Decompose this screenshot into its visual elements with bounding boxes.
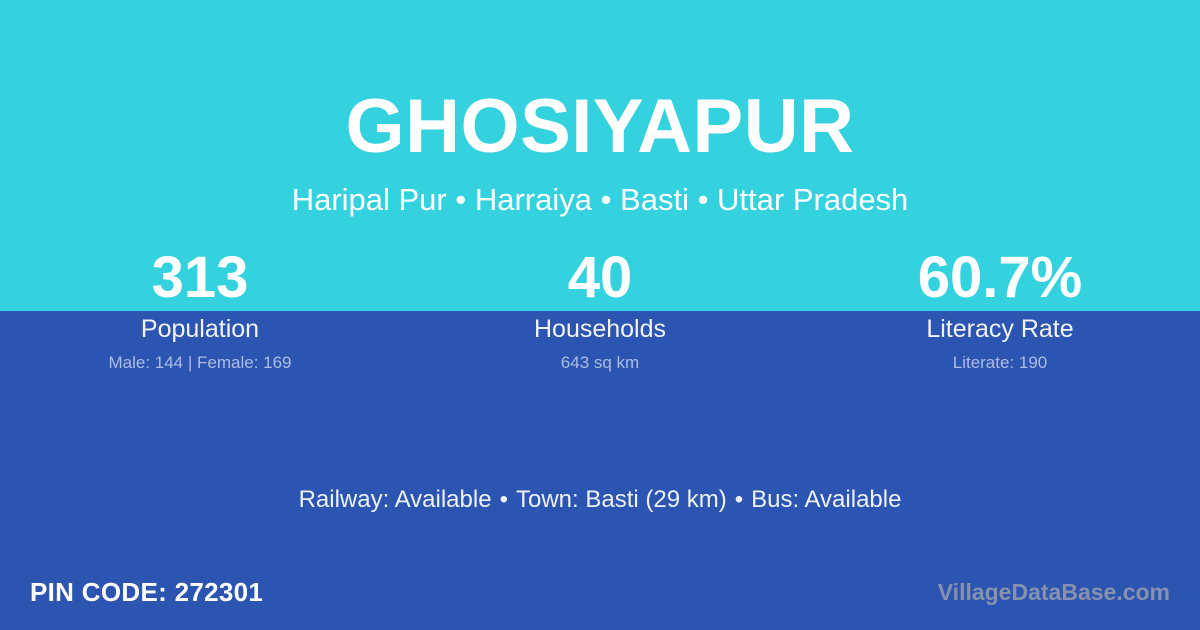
stat-population-label: Population <box>0 314 400 344</box>
connectivity-railway: Railway: Available <box>299 486 492 513</box>
page-title: GHOSIYAPUR <box>0 84 1200 170</box>
breadcrumb: Haripal Pur • Harraiya • Basti • Uttar P… <box>0 182 1200 218</box>
connectivity-bus: Bus: Available <box>751 486 901 513</box>
stat-population: 313 Population Male: 144 | Female: 169 <box>0 246 400 386</box>
stat-households-area: 643 sq km <box>400 352 800 374</box>
stat-population-value: 313 <box>0 246 400 310</box>
connectivity-separator-2: • <box>727 486 751 513</box>
stat-literacy-rate: 60.7% Literacy Rate Literate: 190 <box>800 246 1200 386</box>
stat-literacy-rate-label: Literacy Rate <box>800 314 1200 344</box>
connectivity-info: Railway: Available•Town: Basti (29 km)•B… <box>0 484 1200 516</box>
village-info-card: GHOSIYAPUR Haripal Pur • Harraiya • Bast… <box>0 0 1200 630</box>
stat-households-label: Households <box>400 314 800 344</box>
pin-code: PIN CODE: 272301 <box>30 577 263 607</box>
stat-population-breakdown: Male: 144 | Female: 169 <box>0 352 400 374</box>
stat-households: 40 Households 643 sq km <box>400 246 800 386</box>
brand-watermark: VillageDataBase.com <box>938 578 1170 606</box>
stat-literacy-count: Literate: 190 <box>800 352 1200 374</box>
connectivity-separator-1: • <box>492 486 516 513</box>
stat-households-value: 40 <box>400 246 800 310</box>
connectivity-town: Town: Basti (29 km) <box>516 486 727 513</box>
stats-row: 313 Population Male: 144 | Female: 169 4… <box>0 246 1200 386</box>
footer-bar: PIN CODE: 272301 VillageDataBase.com <box>0 554 1200 630</box>
stat-literacy-rate-value: 60.7% <box>800 246 1200 310</box>
